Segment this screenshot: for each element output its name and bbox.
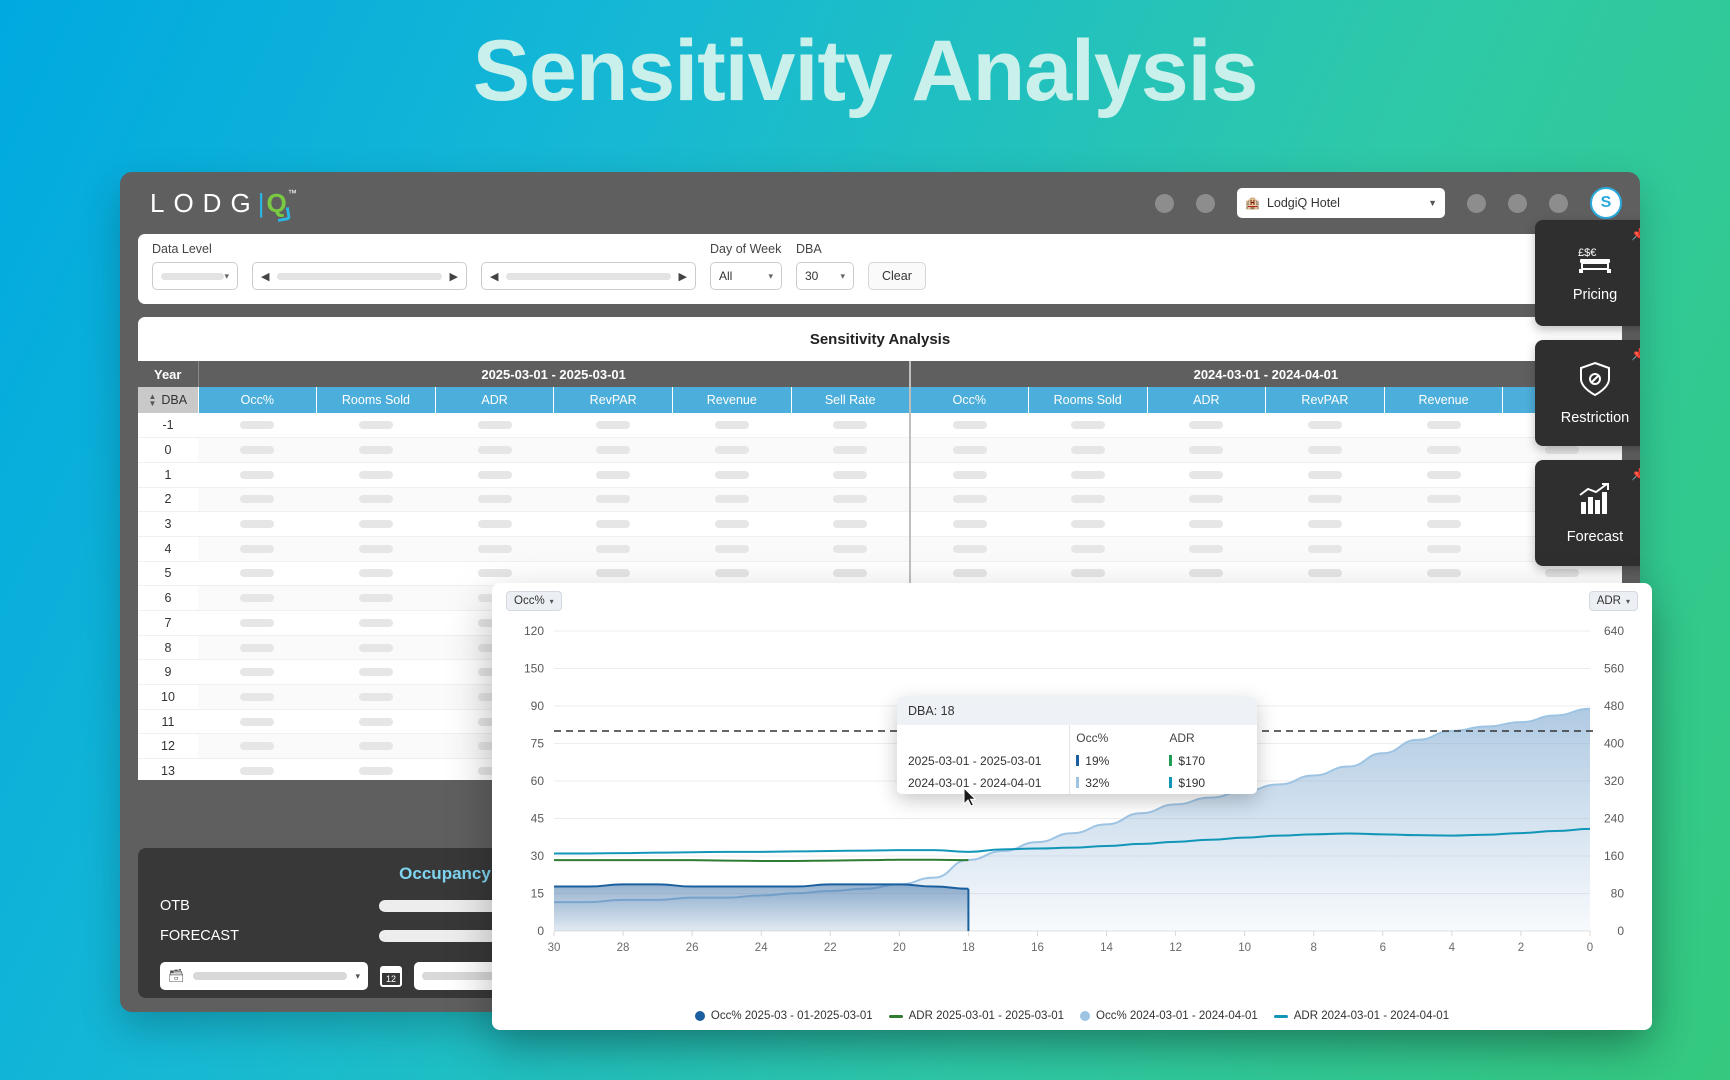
loading-bar bbox=[1071, 545, 1105, 553]
y-axis-left-tick: 75 bbox=[531, 737, 545, 751]
loading-bar bbox=[715, 495, 749, 503]
table-cell-dba: 8 bbox=[138, 635, 198, 660]
table-cell-revpar bbox=[554, 462, 673, 487]
table-cell-rooms-sold bbox=[317, 734, 436, 759]
y-axis-right-tick: 320 bbox=[1604, 774, 1624, 788]
right-rail: 📌£$€Pricing📌Restriction📌Forecast bbox=[1535, 220, 1640, 566]
loading-bar bbox=[240, 767, 274, 775]
tooltip-table: Occ% ADR 2025-03-01 - 2025-03-0119%$1702… bbox=[897, 725, 1257, 794]
loading-bar bbox=[1308, 495, 1342, 503]
loading-bar bbox=[1427, 520, 1461, 528]
rail-item-label: Forecast bbox=[1567, 529, 1623, 545]
chart-tooltip: DBA: 18 Occ% ADR 2025-03-01 - 2025-03-01… bbox=[897, 697, 1257, 794]
loading-bar bbox=[1189, 421, 1223, 429]
loading-bar bbox=[1071, 520, 1105, 528]
table-cell-dba: 4 bbox=[138, 536, 198, 561]
table-cell-dba: 3 bbox=[138, 512, 198, 537]
pin-icon[interactable]: 📌 bbox=[1631, 467, 1640, 481]
table-cell-rooms-sold bbox=[1028, 487, 1147, 512]
loading-bar bbox=[478, 446, 512, 454]
loading-bar bbox=[359, 594, 393, 602]
table-cell-rooms-sold bbox=[317, 487, 436, 512]
loading-bar bbox=[1308, 446, 1342, 454]
table-cell-revpar bbox=[554, 512, 673, 537]
loading-bar bbox=[953, 495, 987, 503]
loading-bar bbox=[359, 495, 393, 503]
legend-label: Occ% 2024-03-01 - 2024-04-01 bbox=[1096, 1010, 1258, 1022]
svg-text:£$€: £$€ bbox=[1578, 247, 1596, 259]
tooltip-row-adr: $190 bbox=[1163, 772, 1257, 794]
chevron-down-icon: ▾ bbox=[840, 271, 845, 282]
loading-bar bbox=[1308, 471, 1342, 479]
date-range-slider-1-field: ◀ ▶ bbox=[252, 262, 467, 290]
loading-bar bbox=[953, 471, 987, 479]
table-row[interactable]: 0 bbox=[138, 438, 1622, 463]
dba-select[interactable]: 30 ▾ bbox=[796, 262, 854, 290]
loading-bar bbox=[240, 693, 274, 701]
y-axis-right-tick: 240 bbox=[1604, 812, 1624, 826]
hotel-icon: 🏨 bbox=[1245, 196, 1260, 210]
loading-bar bbox=[240, 421, 274, 429]
table-cell-rooms-sold bbox=[317, 611, 436, 636]
table-row[interactable]: 2 bbox=[138, 487, 1622, 512]
x-axis-tick-label: 14 bbox=[1100, 942, 1113, 954]
table-cell-sell-rate bbox=[791, 413, 910, 438]
table-cell-occ- bbox=[198, 734, 317, 759]
y-axis-left-tick: 0 bbox=[537, 924, 544, 938]
loading-bar bbox=[478, 495, 512, 503]
y-axis-right-tick: 0 bbox=[1617, 924, 1624, 938]
chevron-down-icon: ▾ bbox=[355, 971, 360, 982]
legend-label: Occ% 2025-03 - 01-2025-03-01 bbox=[711, 1010, 873, 1022]
right-axis-metric-select[interactable]: ADR ▾ bbox=[1589, 591, 1638, 611]
table-cell-rooms-sold bbox=[317, 685, 436, 710]
dba-field: DBA 30 ▾ bbox=[796, 242, 854, 290]
chart-legend: Occ% 2025-03 - 01-2025-03-01ADR 2025-03-… bbox=[492, 1010, 1652, 1022]
tooltip-row-adr: $170 bbox=[1163, 750, 1257, 772]
table-cell-rooms-sold bbox=[1028, 536, 1147, 561]
x-axis-tick-label: 18 bbox=[962, 942, 975, 954]
table-cell-occ- bbox=[198, 561, 317, 586]
rail-item-restriction[interactable]: 📌Restriction bbox=[1535, 340, 1640, 446]
topbar-actions: 🏨 LodgiQ Hotel ▼ S bbox=[1155, 187, 1622, 219]
legend-label: ADR 2024-03-01 - 2024-04-01 bbox=[1294, 1010, 1449, 1022]
table-cell-revpar bbox=[1266, 536, 1385, 561]
legend-item[interactable]: ADR 2025-03-01 - 2025-03-01 bbox=[889, 1010, 1064, 1022]
loading-bar bbox=[833, 495, 867, 503]
loading-bar bbox=[596, 421, 630, 429]
loading-bar bbox=[240, 718, 274, 726]
table-column-header-occ-[interactable]: Occ% bbox=[198, 387, 317, 413]
app-topbar: LODG | Q ™ 🏨 LodgiQ Hotel ▼ S bbox=[120, 172, 1640, 234]
loading-bar bbox=[833, 545, 867, 553]
x-axis-tick-label: 16 bbox=[1031, 942, 1044, 954]
day-of-week-value: All bbox=[719, 269, 732, 283]
table-column-header-rooms-sold[interactable]: Rooms Sold bbox=[1028, 387, 1147, 413]
loading-bar bbox=[596, 471, 630, 479]
x-axis-tick-label: 22 bbox=[824, 942, 837, 954]
loading-bar bbox=[240, 495, 274, 503]
loading-bar bbox=[953, 421, 987, 429]
loading-bar bbox=[596, 520, 630, 528]
table-column-header-revpar[interactable]: RevPAR bbox=[554, 387, 673, 413]
table-cell-sell-rate bbox=[791, 512, 910, 537]
loading-bar bbox=[596, 545, 630, 553]
series-swatch bbox=[1169, 777, 1172, 788]
table-cell-adr bbox=[435, 512, 554, 537]
legend-item[interactable]: Occ% 2025-03 - 01-2025-03-01 bbox=[695, 1010, 873, 1022]
loading-bar bbox=[478, 569, 512, 577]
tooltip-row-label: 2024-03-01 - 2024-04-01 bbox=[897, 772, 1070, 794]
table-cell-occ- bbox=[910, 536, 1029, 561]
loading-bar bbox=[715, 569, 749, 577]
tooltip-header-blank bbox=[897, 725, 1070, 750]
loading-bar bbox=[1427, 471, 1461, 479]
table-group-header-right: 2024-03-01 - 2024-04-01 bbox=[910, 361, 1622, 387]
loading-bar bbox=[715, 421, 749, 429]
y-axis-left-tick: 45 bbox=[531, 812, 545, 826]
chevron-right-icon[interactable]: ▶ bbox=[450, 270, 458, 283]
loading-bar bbox=[1189, 569, 1223, 577]
loading-bar bbox=[953, 569, 987, 577]
table-cell-occ- bbox=[198, 536, 317, 561]
table-row[interactable]: 1 bbox=[138, 462, 1622, 487]
database-selector[interactable]: 🗃 ▾ bbox=[160, 962, 368, 990]
table-cell-revpar bbox=[1266, 512, 1385, 537]
slider-track[interactable] bbox=[277, 273, 441, 280]
table-column-header-sell-rate[interactable]: Sell Rate bbox=[791, 387, 910, 413]
table-cell-rooms-sold bbox=[317, 759, 436, 780]
loading-bar bbox=[359, 693, 393, 701]
table-column-header-revenue[interactable]: Revenue bbox=[1384, 387, 1503, 413]
chevron-left-icon[interactable]: ◀ bbox=[261, 270, 269, 283]
table-group-header-left: 2025-03-01 - 2025-03-01 bbox=[198, 361, 910, 387]
shield-icon bbox=[1578, 361, 1612, 402]
loading-bar bbox=[478, 471, 512, 479]
table-cell-occ- bbox=[198, 487, 317, 512]
summary-row-label-forecast: FORECAST bbox=[160, 928, 280, 944]
table-column-header-revpar[interactable]: RevPAR bbox=[1266, 387, 1385, 413]
table-cell-occ- bbox=[910, 512, 1029, 537]
topbar-icon-button-1[interactable] bbox=[1155, 194, 1174, 213]
tooltip-header-row: Occ% ADR bbox=[897, 725, 1257, 750]
day-of-week-label: Day of Week bbox=[710, 242, 782, 256]
logo-word: LODG bbox=[150, 188, 260, 219]
loading-bar bbox=[1308, 569, 1342, 577]
day-of-week-field: Day of Week All ▾ bbox=[710, 242, 782, 290]
loading-bar bbox=[1427, 495, 1461, 503]
data-level-select[interactable]: ▾ bbox=[152, 262, 238, 290]
logo-trademark: ™ bbox=[288, 188, 297, 198]
loading-bar bbox=[359, 644, 393, 652]
x-axis-tick-label: 26 bbox=[686, 942, 699, 954]
y-axis-right-tick: 560 bbox=[1604, 662, 1624, 676]
table-cell-adr bbox=[435, 413, 554, 438]
date-range-slider-2-field: ◀ ▶ bbox=[481, 262, 696, 290]
loading-bar bbox=[596, 495, 630, 503]
loading-bar bbox=[240, 520, 274, 528]
calendar-icon[interactable]: 12 bbox=[380, 966, 402, 987]
forecast-icon bbox=[1576, 482, 1614, 521]
table-cell-occ- bbox=[198, 512, 317, 537]
table-cell-dba: 1 bbox=[138, 462, 198, 487]
rail-item-pricing[interactable]: 📌£$€Pricing bbox=[1535, 220, 1640, 326]
date-range-slider-1[interactable]: ◀ ▶ bbox=[252, 262, 467, 290]
loading-bar bbox=[359, 421, 393, 429]
y-axis-left-tick: 150 bbox=[524, 662, 544, 676]
loading-bar bbox=[715, 471, 749, 479]
topbar-icon-button-3[interactable] bbox=[1467, 194, 1486, 213]
table-cell-adr bbox=[1147, 413, 1266, 438]
loading-bar bbox=[715, 446, 749, 454]
loading-bar bbox=[240, 594, 274, 602]
table-cell-revenue bbox=[673, 536, 792, 561]
x-axis-tick-label: 10 bbox=[1238, 942, 1251, 954]
table-cell-sell-rate bbox=[791, 487, 910, 512]
tooltip-header-adr: ADR bbox=[1163, 725, 1257, 750]
chart-panel: Occ% ▾ ADR ▾ 120150907560453015064056048… bbox=[492, 583, 1652, 1030]
table-cell-rooms-sold bbox=[317, 660, 436, 685]
dba-label: DBA bbox=[796, 242, 854, 256]
y-axis-right-tick: 160 bbox=[1604, 849, 1624, 863]
loading-bar bbox=[478, 520, 512, 528]
logo-q: Q bbox=[266, 188, 286, 219]
y-axis-right-tick: 400 bbox=[1604, 737, 1624, 751]
table-cell-revenue bbox=[673, 487, 792, 512]
x-axis-tick-label: 30 bbox=[548, 942, 561, 954]
table-cell-revpar bbox=[554, 536, 673, 561]
loading-bar bbox=[240, 446, 274, 454]
table-cell-revenue bbox=[673, 413, 792, 438]
loading-bar bbox=[359, 520, 393, 528]
loading-bar bbox=[1189, 520, 1223, 528]
sort-icon[interactable]: ▲▼ bbox=[148, 393, 156, 407]
loading-bar bbox=[240, 569, 274, 577]
tooltip-row: 2024-03-01 - 2024-04-0132%$190 bbox=[897, 772, 1257, 794]
filter-bar: Data Level ▾ ◀ ▶ ◀ ▶ Day of Week All bbox=[138, 234, 1622, 304]
chevron-down-icon: ▾ bbox=[1626, 597, 1630, 606]
loading-bar bbox=[240, 668, 274, 676]
x-axis-tick-label: 28 bbox=[617, 942, 630, 954]
table-cell-adr bbox=[1147, 462, 1266, 487]
table-cell-revenue bbox=[673, 462, 792, 487]
table-cell-occ- bbox=[198, 462, 317, 487]
chevron-down-icon: ▾ bbox=[224, 271, 229, 282]
loading-bar bbox=[833, 520, 867, 528]
y-axis-left-tick: 60 bbox=[531, 774, 545, 788]
table-cell-revenue bbox=[1384, 462, 1503, 487]
y-axis-right-tick: 80 bbox=[1611, 887, 1625, 901]
table-cell-adr bbox=[1147, 487, 1266, 512]
legend-item[interactable]: Occ% 2024-03-01 - 2024-04-01 bbox=[1080, 1010, 1258, 1022]
chevron-right-icon[interactable]: ▶ bbox=[679, 270, 687, 283]
chart-plot-area[interactable]: 1201509075604530150640560480400320240160… bbox=[492, 619, 1652, 1030]
loading-bar bbox=[240, 545, 274, 553]
table-cell-adr bbox=[1147, 536, 1266, 561]
hotel-selector-value: LodgiQ Hotel bbox=[1267, 196, 1340, 210]
legend-marker bbox=[1274, 1015, 1288, 1018]
loading-bar bbox=[1427, 569, 1461, 577]
loading-bar bbox=[596, 446, 630, 454]
loading-bar bbox=[240, 471, 274, 479]
table-cell-occ- bbox=[910, 462, 1029, 487]
table-cell-revenue bbox=[1384, 512, 1503, 537]
x-axis-tick-label: 8 bbox=[1311, 942, 1317, 954]
series-line-1 bbox=[554, 860, 968, 861]
table-column-header-row: ▲▼DBA Occ%Rooms SoldADRRevPARRevenueSell… bbox=[138, 387, 1622, 413]
pricing-icon: £$€ bbox=[1575, 244, 1615, 279]
loading-bar bbox=[833, 569, 867, 577]
topbar-icon-button-4[interactable] bbox=[1508, 194, 1527, 213]
tooltip-row-occ: 19% bbox=[1070, 750, 1164, 772]
tooltip-body: 2025-03-01 - 2025-03-0119%$1702024-03-01… bbox=[897, 750, 1257, 794]
chevron-down-icon: ▾ bbox=[550, 597, 554, 606]
table-column-header-adr[interactable]: ADR bbox=[435, 387, 554, 413]
table-cell-occ- bbox=[198, 759, 317, 780]
chart-svg[interactable]: 1201509075604530150640560480400320240160… bbox=[492, 619, 1652, 994]
table-cell-rooms-sold bbox=[317, 709, 436, 734]
rail-item-forecast[interactable]: 📌Forecast bbox=[1535, 460, 1640, 566]
table-column-header-revenue[interactable]: Revenue bbox=[673, 387, 792, 413]
loading-bar bbox=[1545, 569, 1579, 577]
table-group-header-row: Year 2025-03-01 - 2025-03-01 2024-03-01 … bbox=[138, 361, 1622, 387]
pin-icon[interactable]: 📌 bbox=[1631, 227, 1640, 241]
x-axis-tick-label: 24 bbox=[755, 942, 768, 954]
tooltip-title: DBA: 18 bbox=[897, 697, 1257, 725]
table-cell-occ- bbox=[198, 611, 317, 636]
slider-track[interactable] bbox=[506, 273, 670, 280]
loading-bar bbox=[359, 446, 393, 454]
tooltip-row-label: 2025-03-01 - 2025-03-01 bbox=[897, 750, 1070, 772]
day-of-week-select[interactable]: All ▾ bbox=[710, 262, 782, 290]
loading-bar bbox=[1071, 421, 1105, 429]
table-column-header-rooms-sold[interactable]: Rooms Sold bbox=[317, 387, 436, 413]
table-cell-rooms-sold bbox=[1028, 413, 1147, 438]
table-column-header-adr[interactable]: ADR bbox=[1147, 387, 1266, 413]
legend-marker bbox=[695, 1011, 705, 1021]
loading-bar bbox=[1189, 495, 1223, 503]
topbar-icon-button-5[interactable] bbox=[1549, 194, 1568, 213]
y-axis-left-tick: 30 bbox=[531, 849, 545, 863]
loading-bar bbox=[1308, 520, 1342, 528]
clear-field: Clear bbox=[868, 262, 926, 290]
table-cell-dba: -1 bbox=[138, 413, 198, 438]
table-row[interactable]: 3 bbox=[138, 512, 1622, 537]
hotel-selector[interactable]: 🏨 LodgiQ Hotel ▼ bbox=[1237, 188, 1445, 218]
table-cell-adr bbox=[435, 536, 554, 561]
avatar[interactable]: S bbox=[1590, 187, 1622, 219]
table-cell-revenue bbox=[1384, 536, 1503, 561]
table-row[interactable]: -1 bbox=[138, 413, 1622, 438]
table-cell-dba: 7 bbox=[138, 611, 198, 636]
y-axis-right-tick: 480 bbox=[1604, 699, 1624, 713]
table-cell-rooms-sold bbox=[1028, 438, 1147, 463]
chevron-down-icon: ▼ bbox=[1428, 198, 1437, 208]
table-cell-occ- bbox=[198, 709, 317, 734]
left-axis-metric-select[interactable]: Occ% ▾ bbox=[506, 591, 562, 611]
loading-bar bbox=[1189, 446, 1223, 454]
date-range-slider-2[interactable]: ◀ ▶ bbox=[481, 262, 696, 290]
loading-bar bbox=[240, 644, 274, 652]
loading-bar bbox=[953, 545, 987, 553]
loading-bar bbox=[359, 471, 393, 479]
table-cell-adr bbox=[1147, 512, 1266, 537]
table-cell-revpar bbox=[1266, 462, 1385, 487]
table-cell-sell-rate bbox=[791, 438, 910, 463]
table-column-header-occ-[interactable]: Occ% bbox=[910, 387, 1029, 413]
table-cell-occ- bbox=[198, 685, 317, 710]
chevron-left-icon[interactable]: ◀ bbox=[490, 270, 498, 283]
right-axis-metric-value: ADR bbox=[1597, 595, 1621, 607]
chart-toolbar-right: ADR ▾ bbox=[1589, 591, 1638, 611]
rail-item-label: Pricing bbox=[1573, 287, 1617, 303]
table-cell-occ- bbox=[910, 487, 1029, 512]
loading-bar bbox=[1308, 545, 1342, 553]
database-selector-value bbox=[193, 972, 348, 980]
table-cell-rooms-sold bbox=[317, 413, 436, 438]
table-cell-dba: 6 bbox=[138, 586, 198, 611]
table-cell-sell-rate bbox=[791, 536, 910, 561]
topbar-icon-button-2[interactable] bbox=[1196, 194, 1215, 213]
loading-bar bbox=[359, 668, 393, 676]
loading-bar bbox=[359, 619, 393, 627]
table-cell-sell-rate bbox=[791, 462, 910, 487]
series-swatch bbox=[1076, 777, 1079, 788]
left-axis-metric-value: Occ% bbox=[514, 595, 545, 607]
x-axis-tick-label: 20 bbox=[893, 942, 906, 954]
table-cell-revenue bbox=[673, 512, 792, 537]
legend-item[interactable]: ADR 2024-03-01 - 2024-04-01 bbox=[1274, 1010, 1449, 1022]
table-cell-dba: 11 bbox=[138, 709, 198, 734]
loading-bar bbox=[240, 619, 274, 627]
tooltip-row-occ: 32% bbox=[1070, 772, 1164, 794]
table-cell-occ- bbox=[198, 635, 317, 660]
table-cell-revpar bbox=[1266, 438, 1385, 463]
tooltip-row: 2025-03-01 - 2025-03-0119%$170 bbox=[897, 750, 1257, 772]
pin-icon[interactable]: 📌 bbox=[1631, 347, 1640, 361]
clear-button[interactable]: Clear bbox=[868, 262, 926, 290]
table-cell-dba: 9 bbox=[138, 660, 198, 685]
loading-bar bbox=[359, 742, 393, 750]
table-row[interactable]: 4 bbox=[138, 536, 1622, 561]
loading-bar bbox=[1071, 569, 1105, 577]
table-dba-header[interactable]: ▲▼DBA bbox=[138, 387, 198, 413]
loading-bar bbox=[1189, 471, 1223, 479]
chevron-down-icon: ▾ bbox=[768, 271, 773, 282]
x-axis-tick-label: 4 bbox=[1449, 942, 1456, 954]
y-axis-left-tick: 90 bbox=[531, 699, 545, 713]
table-year-header: Year bbox=[138, 361, 198, 387]
loading-bar bbox=[1427, 446, 1461, 454]
y-axis-left-tick: 120 bbox=[524, 624, 544, 638]
data-level-placeholder-bar bbox=[161, 273, 224, 280]
table-cell-revenue bbox=[1384, 438, 1503, 463]
table-cell-rooms-sold bbox=[317, 561, 436, 586]
series-swatch bbox=[1076, 755, 1079, 766]
loading-bar bbox=[478, 545, 512, 553]
lodgiq-logo[interactable]: LODG | Q ™ bbox=[138, 188, 297, 219]
x-axis-tick-label: 0 bbox=[1587, 942, 1593, 954]
table-cell-dba: 0 bbox=[138, 438, 198, 463]
y-axis-left-tick: 15 bbox=[531, 887, 545, 901]
table-cell-occ- bbox=[198, 660, 317, 685]
y-axis-right-tick: 640 bbox=[1604, 624, 1624, 638]
data-level-field: Data Level ▾ bbox=[152, 242, 238, 290]
table-cell-occ- bbox=[198, 586, 317, 611]
mouse-cursor-icon bbox=[963, 787, 977, 807]
loading-bar bbox=[1427, 421, 1461, 429]
table-cell-revpar bbox=[1266, 487, 1385, 512]
